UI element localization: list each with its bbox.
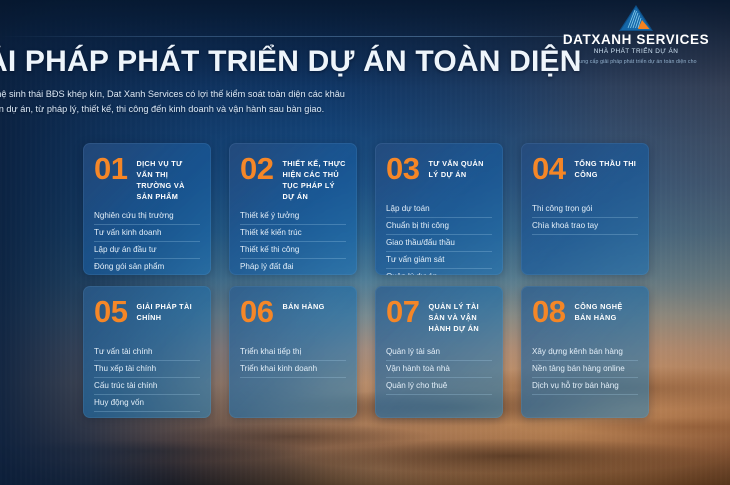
list-item: Quản lý cho thuê [386,378,492,395]
card-header: 02 THIẾT KẾ, THỰC HIỆN CÁC THỦ TỤC PHÁP … [240,155,346,202]
solution-card[interactable]: 08 CÔNG NGHỆ BÁN HÀNG Xây dựng kênh bán … [521,286,649,418]
subtitle-line-1: ìu hệ sinh thái BĐS khép kín, Dat Xanh S… [0,87,730,102]
card-header: 08 CÔNG NGHỆ BÁN HÀNG [532,298,638,338]
list-item: Tư vấn kinh doanh [94,225,200,242]
solution-card-grid: 01 DỊCH VỤ TƯ VẤN THỊ TRƯỜNG VÀ SẢN PHẨM… [83,143,649,418]
list-item: Nghiên cứu thị trường [94,208,200,225]
card-item-list: Lập dự toán Chuẩn bị thi công Giao thầu/… [386,201,492,275]
list-item: Chuẩn bị thi công [386,218,492,235]
card-title: TỔNG THẦU THI CÔNG [574,155,638,180]
list-item: Tư vấn tài chính [94,344,200,361]
card-header: 01 DỊCH VỤ TƯ VẤN THỊ TRƯỜNG VÀ SẢN PHẨM [94,155,200,202]
card-title: GIẢI PHÁP TÀI CHÍNH [136,298,200,323]
card-title: DỊCH VỤ TƯ VẤN THỊ TRƯỜNG VÀ SẢN PHẨM [136,155,200,202]
card-item-list: Xây dựng kênh bán hàng Nền tảng bán hàng… [532,344,638,395]
card-item-list: Tư vấn tài chính Thu xếp tài chính Cấu t… [94,344,200,412]
solution-card[interactable]: 05 GIẢI PHÁP TÀI CHÍNH Tư vấn tài chính … [83,286,211,418]
card-number: 01 [94,155,127,184]
list-item: Chìa khoá trao tay [532,218,638,235]
list-item: Cấu trúc tài chính [94,378,200,395]
card-header: 06 BÁN HÀNG [240,298,346,338]
list-item: Giao thầu/đấu thầu [386,235,492,252]
list-item: Vận hành toà nhà [386,361,492,378]
card-header: 07 QUẢN LÝ TÀI SẢN VÀ VẬN HÀNH DỰ ÁN [386,298,492,338]
solution-card[interactable]: 01 DỊCH VỤ TƯ VẤN THỊ TRƯỜNG VÀ SẢN PHẨM… [83,143,211,275]
list-item: Quản lý dự án [386,269,492,275]
solution-card[interactable]: 04 TỔNG THẦU THI CÔNG Thi công trọn gói … [521,143,649,275]
page-title: ẢI PHÁP PHÁT TRIỂN DỰ ÁN TOÀN DIỆN [0,46,730,78]
card-number: 07 [386,298,419,327]
solution-card[interactable]: 02 THIẾT KẾ, THỰC HIỆN CÁC THỦ TỤC PHÁP … [229,143,357,275]
card-number: 03 [386,155,419,184]
list-item: Nền tảng bán hàng online [532,361,638,378]
list-item: Lập dự toán [386,201,492,218]
solution-card[interactable]: 07 QUẢN LÝ TÀI SẢN VÀ VẬN HÀNH DỰ ÁN Quả… [375,286,503,418]
page-header: DATXANH SERVICES NHÀ PHÁT TRIỂN DỰ ÁN Cu… [0,0,730,46]
list-item: Huy động vốn [94,395,200,412]
subtitle-line-2: triển dự án, từ pháp lý, thiết kế, thi c… [0,102,730,117]
list-item: Triển khai kinh doanh [240,361,346,378]
card-header: 03 TƯ VẤN QUẢN LÝ DỰ ÁN [386,155,492,195]
list-item: Thu xếp tài chính [94,361,200,378]
solution-card[interactable]: 03 TƯ VẤN QUẢN LÝ DỰ ÁN Lập dự toán Chuẩ… [375,143,503,275]
list-item: Thiết kế thi công [240,242,346,259]
header-divider-line [0,36,590,37]
list-item: Thi công trọn gói [532,201,638,218]
card-title: CÔNG NGHỆ BÁN HÀNG [574,298,638,323]
card-item-list: Triển khai tiếp thị Triển khai kinh doan… [240,344,346,378]
list-item: Lập dự án đầu tư [94,242,200,259]
brand-name: DATXANH SERVICES [563,33,709,47]
card-item-list: Nghiên cứu thị trường Tư vấn kinh doanh … [94,208,200,275]
list-item: Đóng gói sản phẩm [94,259,200,275]
card-number: 02 [240,155,273,184]
card-header: 04 TỔNG THẦU THI CÔNG [532,155,638,195]
list-item: Tư vấn giám sát [386,252,492,269]
card-title: THIẾT KẾ, THỰC HIỆN CÁC THỦ TỤC PHÁP LÝ … [282,155,346,202]
card-item-list: Quản lý tài sản Vận hành toà nhà Quản lý… [386,344,492,395]
card-item-list: Thiết kế ý tưởng Thiết kế kiến trúc Thiế… [240,208,346,275]
card-title: TƯ VẤN QUẢN LÝ DỰ ÁN [428,155,492,180]
list-item: Triển khai tiếp thị [240,344,346,361]
card-number: 05 [94,298,127,327]
page-subtitle: ìu hệ sinh thái BĐS khép kín, Dat Xanh S… [0,87,730,117]
card-title: QUẢN LÝ TÀI SẢN VÀ VẬN HÀNH DỰ ÁN [428,298,492,334]
card-header: 05 GIẢI PHÁP TÀI CHÍNH [94,298,200,338]
card-number: 04 [532,155,565,184]
title-section: ẢI PHÁP PHÁT TRIỂN DỰ ÁN TOÀN DIỆN ìu hệ… [0,46,730,117]
card-number: 06 [240,298,273,327]
list-item: Xây dựng kênh bán hàng [532,344,638,361]
list-item: Pháp lý đất đai [240,259,346,275]
list-item: Thiết kế kiến trúc [240,225,346,242]
card-title: BÁN HÀNG [282,298,324,312]
solution-card[interactable]: 06 BÁN HÀNG Triển khai tiếp thị Triển kh… [229,286,357,418]
card-item-list: Thi công trọn gói Chìa khoá trao tay [532,201,638,235]
datxanh-triangle-logo-icon [618,4,654,32]
list-item: Dịch vụ hỗ trợ bán hàng [532,378,638,395]
list-item: Quản lý tài sản [386,344,492,361]
card-number: 08 [532,298,565,327]
list-item: Thiết kế ý tưởng [240,208,346,225]
